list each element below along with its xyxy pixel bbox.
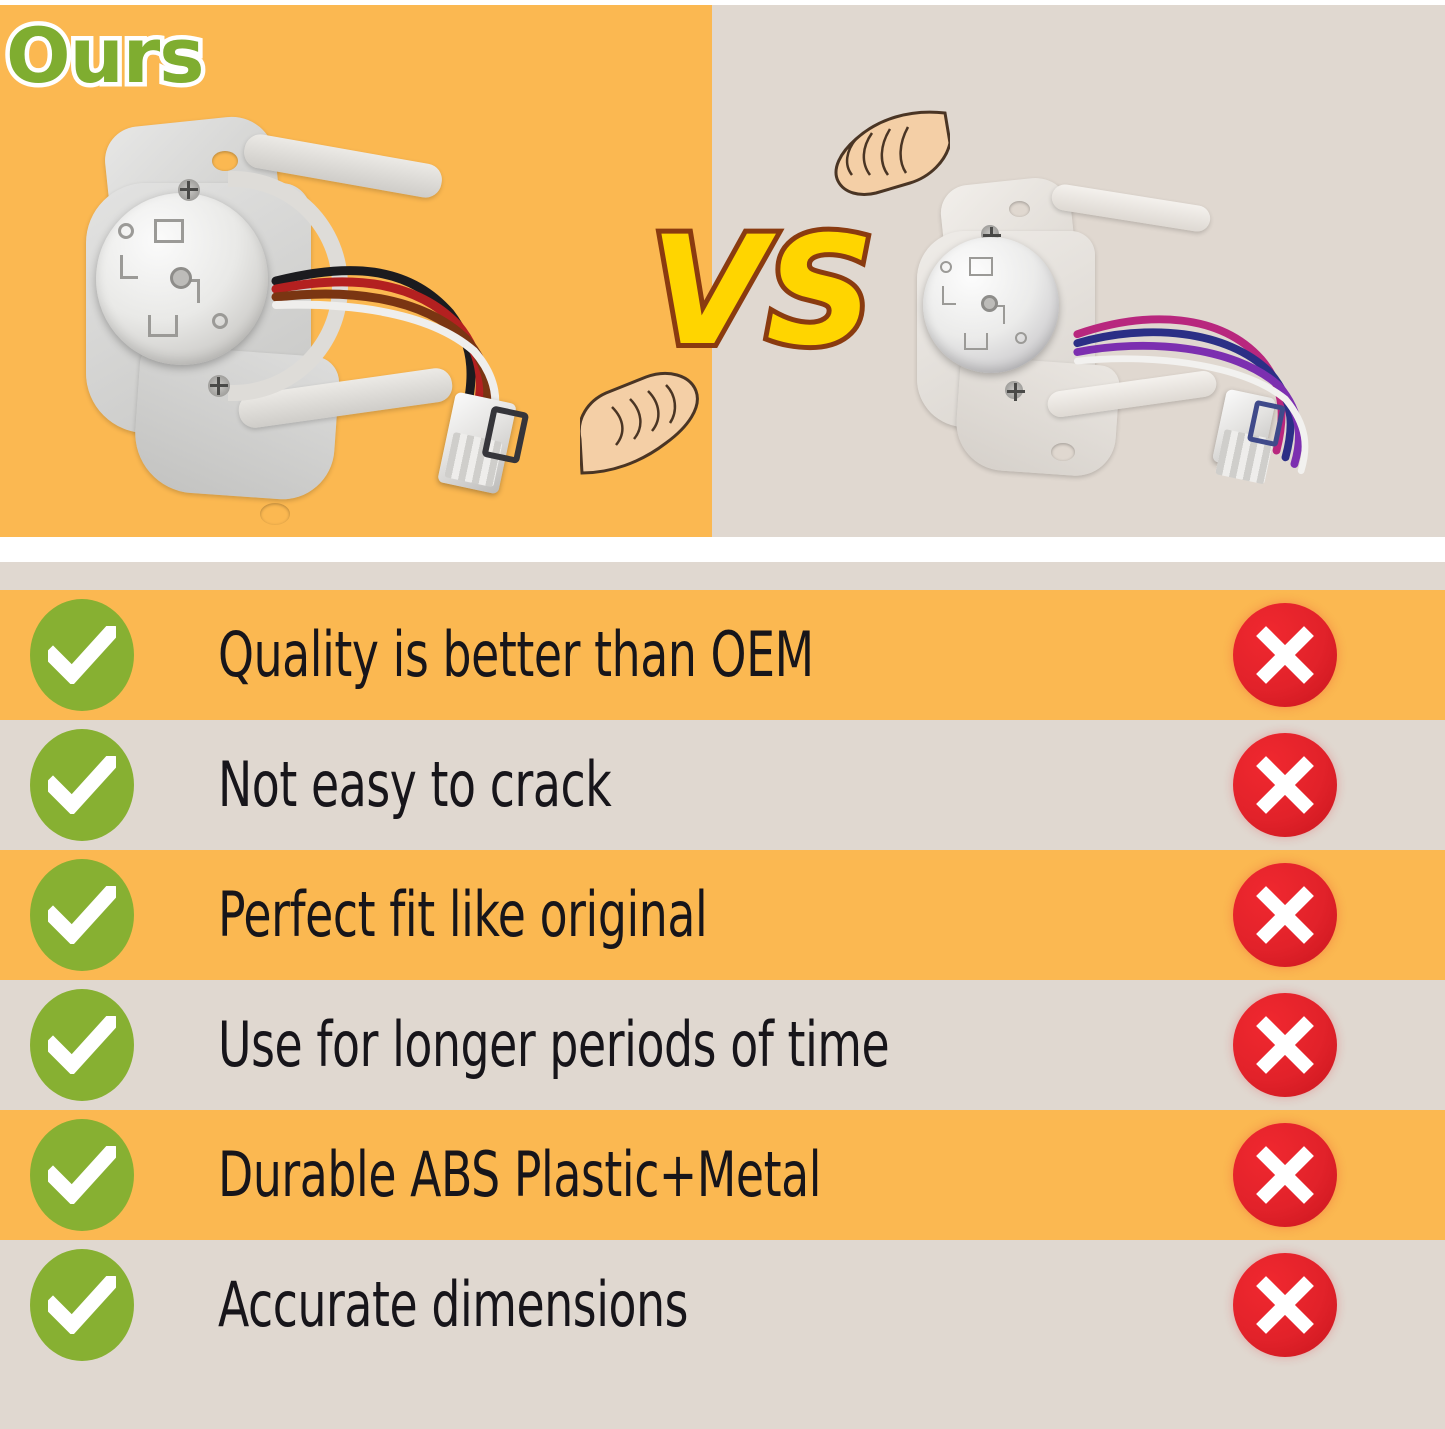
feature-comparison-table: Quality is better than OEMNot easy to cr…	[0, 562, 1445, 1429]
cross-icon	[1233, 733, 1337, 837]
feature-label: Quality is better than OEM	[218, 620, 814, 690]
check-icon	[30, 859, 134, 971]
screw-icon	[208, 375, 230, 397]
table-row: Durable ABS Plastic+Metal	[0, 1110, 1445, 1240]
motor-shaft-hub	[981, 295, 998, 312]
stamp-mark	[942, 286, 956, 305]
check-icon	[30, 729, 134, 841]
screw-icon	[178, 179, 200, 201]
motor-housing-left	[96, 193, 268, 365]
stamp-dot	[212, 313, 228, 329]
cross-icon	[1233, 863, 1337, 967]
ours-badge-label: Ours	[6, 13, 203, 99]
table-row: Use for longer periods of time	[0, 980, 1445, 1110]
infographic-page: Ours	[0, 0, 1445, 1429]
stamp-dot	[940, 261, 952, 273]
cross-icon	[1233, 603, 1337, 707]
mount-hole	[1009, 201, 1030, 217]
motor-housing-right	[923, 237, 1059, 373]
feature-label: Not easy to crack	[218, 750, 611, 820]
stamp-dot	[1015, 332, 1027, 344]
mount-hole	[212, 151, 238, 171]
feature-label: Perfect fit like original	[218, 880, 707, 950]
product-comparison-banner: Ours	[0, 5, 1445, 537]
connector-ribs	[444, 432, 502, 487]
check-icon	[30, 1119, 134, 1231]
stamp-mark	[964, 333, 988, 350]
mount-hole	[260, 503, 290, 525]
wire-connector-right	[1212, 389, 1276, 472]
bracket-arm-top-right	[1050, 183, 1212, 234]
cross-icon	[1233, 1253, 1337, 1357]
feature-label: Durable ABS Plastic+Metal	[218, 1140, 821, 1210]
cross-icon	[1233, 1123, 1337, 1227]
motor-shaft-hub	[170, 267, 192, 289]
stamp-mark	[120, 255, 138, 279]
check-icon	[30, 599, 134, 711]
stamp-mark	[154, 219, 184, 243]
table-row: Perfect fit like original	[0, 850, 1445, 980]
table-row: Not easy to crack	[0, 720, 1445, 850]
vs-label: VS	[650, 217, 874, 367]
stamp-mark	[969, 257, 993, 276]
stamp-mark	[148, 315, 178, 337]
check-icon	[30, 1249, 134, 1361]
screw-icon	[1005, 381, 1023, 399]
cross-icon	[1233, 993, 1337, 1097]
table-row: Quality is better than OEM	[0, 590, 1445, 720]
check-icon	[30, 989, 134, 1101]
feature-label: Use for longer periods of time	[218, 1010, 889, 1080]
table-row: Accurate dimensions	[0, 1240, 1445, 1370]
competitor-product-photo	[905, 175, 1325, 475]
bracket-lower-right	[953, 356, 1120, 479]
mount-hole	[1051, 443, 1075, 461]
stamp-dot	[118, 223, 134, 239]
feature-label: Accurate dimensions	[218, 1270, 688, 1340]
wire-connector-left	[437, 392, 517, 495]
ours-product-photo	[78, 113, 548, 503]
